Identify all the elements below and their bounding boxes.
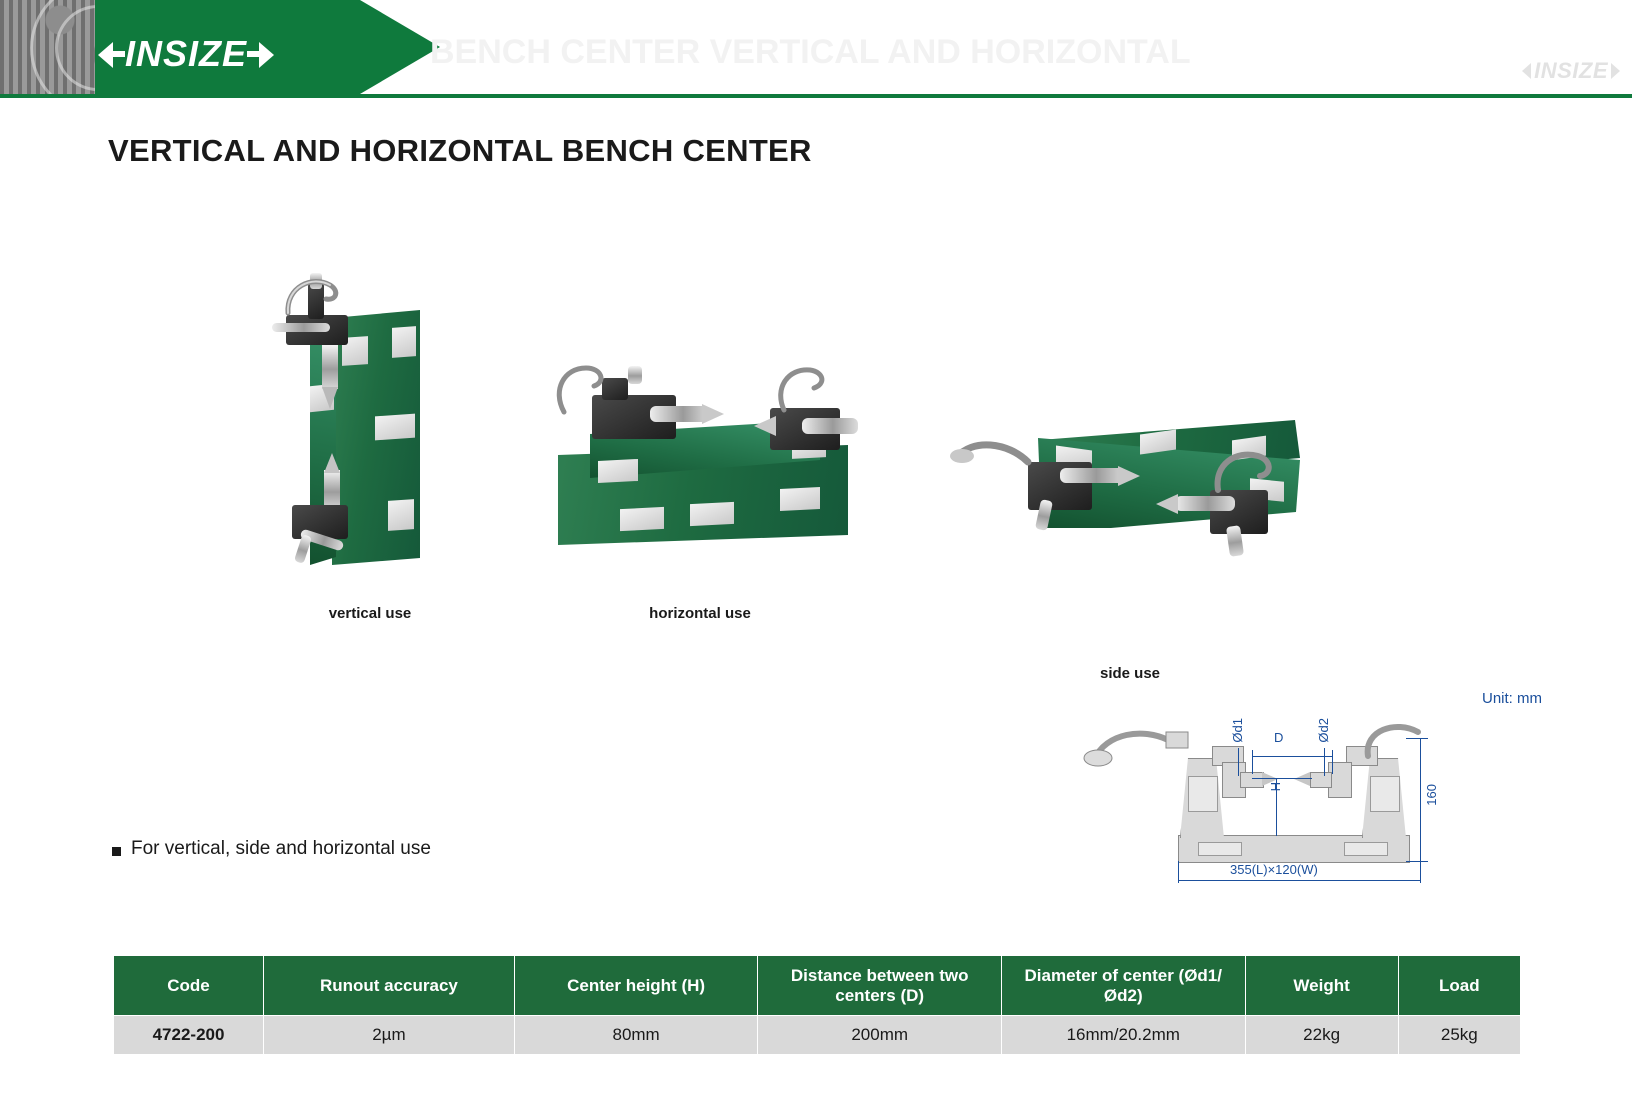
table-header-distance: Distance between two centers (D) <box>758 956 1002 1016</box>
product-caption-side: side use <box>980 665 1280 682</box>
table-row: 4722-200 2µm 80mm 200mm 16mm/20.2mm 22kg… <box>114 1016 1521 1055</box>
page-title: VERTICAL AND HORIZONTAL BENCH CENTER <box>108 133 812 169</box>
product-image-vertical: vertical use <box>280 265 460 585</box>
cell-weight: 22kg <box>1245 1016 1398 1055</box>
bullet-square-icon <box>112 847 121 856</box>
handle-lever-icon-right <box>768 360 848 420</box>
handle-lever-icon-side-right <box>1210 446 1300 506</box>
page-header: BENCH CENTER VERTICAL AND HORIZONTAL INS… <box>0 0 1632 100</box>
table-header-code: Code <box>114 956 264 1016</box>
handle-lever-icon-left <box>550 360 630 420</box>
header-divider <box>0 94 1632 98</box>
dimension-drawing: Unit: mm Ød1 D Ød2 H 160 355(L)×120(W <box>1080 690 1560 910</box>
dimension-label-d1: Ød1 <box>1230 718 1245 743</box>
feature-bullet: For vertical, side and horizontal use <box>112 838 431 860</box>
insize-watermark: INSIZE <box>1522 58 1620 84</box>
drawing-handle-left-icon <box>1082 718 1212 788</box>
dimension-label-D: D <box>1274 730 1283 745</box>
cell-runout: 2µm <box>264 1016 515 1055</box>
dimension-label-height: 160 <box>1424 784 1439 806</box>
product-image-horizontal: horizontal use <box>530 360 860 580</box>
cell-height: 80mm <box>514 1016 758 1055</box>
drawing-handle-right-icon <box>1356 716 1446 772</box>
table-header-row: Code Runout accuracy Center height (H) D… <box>114 956 1521 1016</box>
cell-distance: 200mm <box>758 1016 1002 1055</box>
table-header-weight: Weight <box>1245 956 1398 1016</box>
insize-logo: INSIZE <box>98 33 274 75</box>
cell-load: 25kg <box>1398 1016 1520 1055</box>
logo-left-arrow-icon <box>98 42 113 68</box>
feature-bullet-text: For vertical, side and horizontal use <box>131 838 431 860</box>
specification-table: Code Runout accuracy Center height (H) D… <box>113 955 1521 1055</box>
dimension-label-d2: Ød2 <box>1316 718 1331 743</box>
logo-right-bar-icon <box>247 51 259 57</box>
logo-left-bar-icon <box>113 51 125 57</box>
watermark-right-arrow-icon <box>1611 63 1620 79</box>
dimension-label-footprint: 355(L)×120(W) <box>1230 862 1318 877</box>
product-image-row: vertical use horizontal use <box>0 240 1632 640</box>
handle-lever-icon <box>278 271 358 331</box>
cell-code: 4722-200 <box>114 1016 264 1055</box>
product-caption-vertical: vertical use <box>250 605 490 622</box>
watermark-text: INSIZE <box>1534 58 1608 84</box>
unit-label: Unit: mm <box>1482 690 1542 707</box>
header-ghost-text: BENCH CENTER VERTICAL AND HORIZONTAL <box>430 28 1530 76</box>
handle-lever-icon-side <box>950 432 1060 492</box>
logo-right-arrow-icon <box>259 42 274 68</box>
logo-text: INSIZE <box>125 33 247 75</box>
product-caption-horizontal: horizontal use <box>530 605 870 622</box>
product-image-side: side use <box>960 390 1320 590</box>
table-header-height: Center height (H) <box>514 956 758 1016</box>
cell-diameter: 16mm/20.2mm <box>1001 1016 1245 1055</box>
table-header-load: Load <box>1398 956 1520 1016</box>
table-header-diameter: Diameter of center (Ød1/Ød2) <box>1001 956 1245 1016</box>
table-header-runout: Runout accuracy <box>264 956 515 1016</box>
watermark-left-arrow-icon <box>1522 63 1531 79</box>
